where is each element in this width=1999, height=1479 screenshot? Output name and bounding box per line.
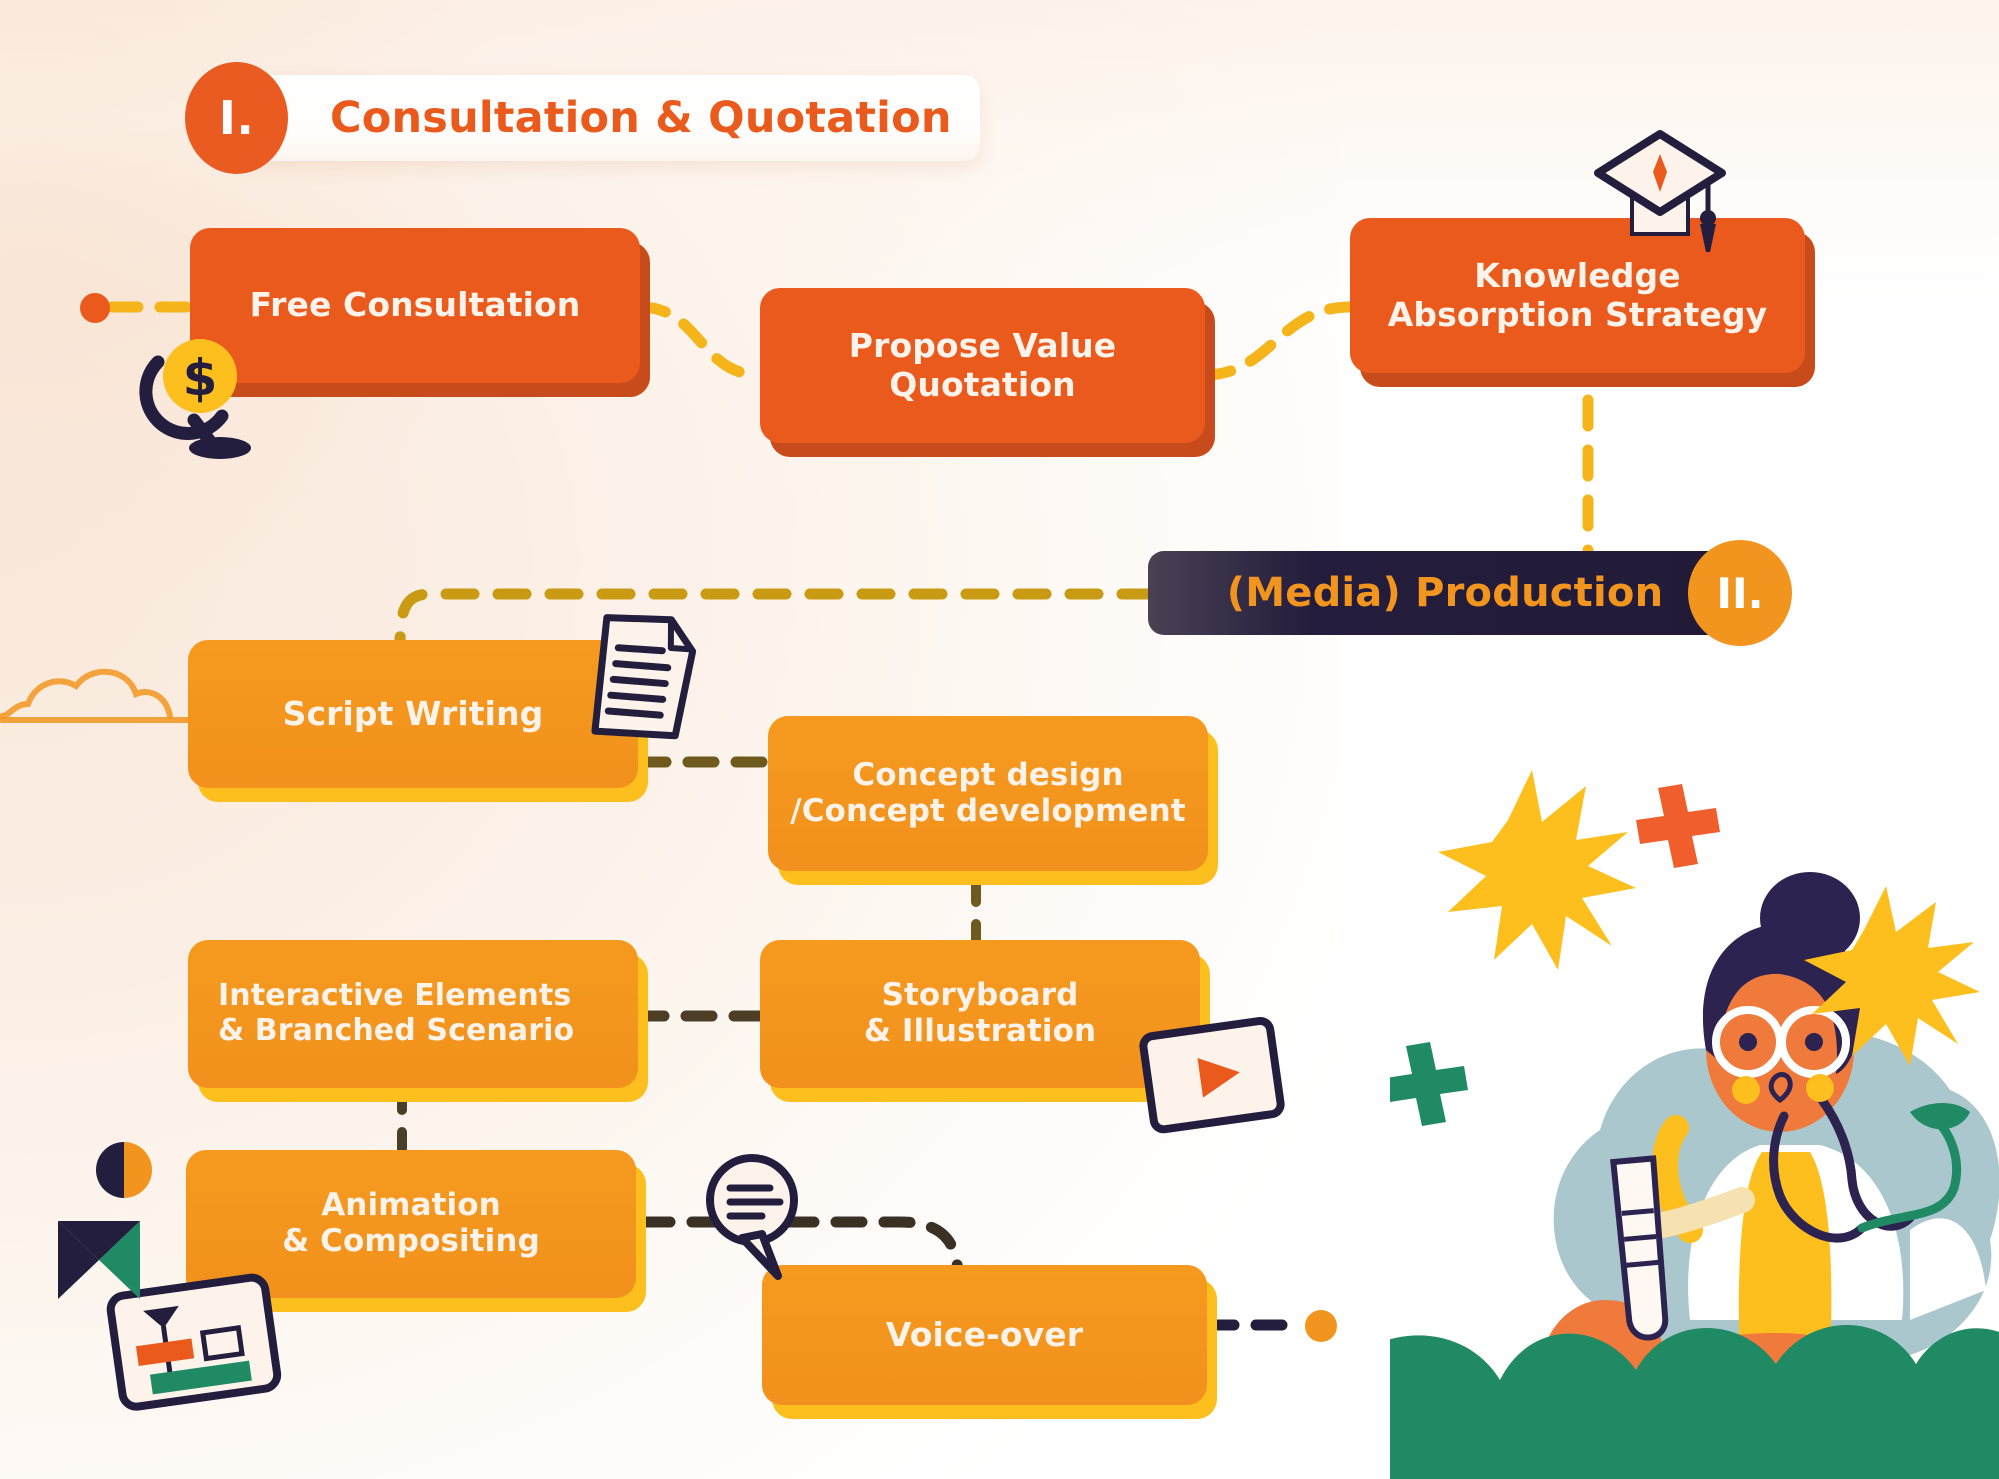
section-header-media-production[interactable]: (Media) Production II. bbox=[1148, 551, 1808, 635]
node-knowledge-absorption-strategy[interactable]: Knowledge Absorption Strategy bbox=[1350, 218, 1805, 373]
video-play-icon bbox=[1135, 1011, 1291, 1140]
infographic-canvas: I. Consultation & Quotation (Media) Prod… bbox=[0, 0, 1999, 1479]
node-face: Concept design /Concept development bbox=[768, 716, 1208, 871]
node-face: Voice-over bbox=[762, 1265, 1207, 1405]
node-label-line-2: & Illustration bbox=[864, 1014, 1096, 1050]
node-label-line-1: Knowledge bbox=[1474, 257, 1680, 295]
cloud-outline-icon bbox=[0, 650, 210, 760]
node-label-free-consultation: Free Consultation bbox=[250, 286, 581, 324]
section-title-1: Consultation & Quotation bbox=[330, 75, 952, 161]
node-storyboard-illustration[interactable]: Storyboard & Illustration bbox=[760, 940, 1200, 1088]
node-face: Script Writing bbox=[188, 640, 638, 788]
node-voice-over[interactable]: Voice-over bbox=[762, 1265, 1207, 1405]
section-numeral-badge-1: I. bbox=[185, 62, 288, 174]
node-face: Interactive Elements & Branched Scenario bbox=[188, 940, 638, 1088]
graduation-cap-icon bbox=[1590, 128, 1735, 258]
node-label-line-2: Quotation bbox=[889, 366, 1075, 404]
document-icon bbox=[579, 604, 708, 750]
section-numeral-1: I. bbox=[219, 91, 255, 145]
node-label-line-1: Concept design bbox=[852, 758, 1123, 794]
section-numeral-badge-2: II. bbox=[1688, 540, 1792, 646]
node-script-writing[interactable]: Script Writing bbox=[188, 640, 638, 788]
svg-text:$: $ bbox=[183, 349, 218, 407]
section-numeral-2: II. bbox=[1716, 569, 1763, 618]
node-label-script-writing: Script Writing bbox=[283, 695, 544, 733]
node-propose-value-quotation[interactable]: Propose Value Quotation bbox=[760, 288, 1205, 443]
node-label-line-2: & Compositing bbox=[282, 1224, 540, 1260]
node-concept-design[interactable]: Concept design /Concept development bbox=[768, 716, 1208, 871]
speech-bubble-icon bbox=[700, 1150, 810, 1280]
flow-end-dot bbox=[1305, 1310, 1337, 1342]
section-title-2: (Media) Production bbox=[1227, 570, 1664, 616]
node-face: Knowledge Absorption Strategy bbox=[1350, 218, 1805, 373]
node-label-line-2: Absorption Strategy bbox=[1388, 296, 1767, 334]
node-label-line-2: /Concept development bbox=[790, 794, 1185, 830]
node-label-line-1: Propose Value bbox=[849, 327, 1116, 365]
node-label-voice-over: Voice-over bbox=[886, 1316, 1083, 1354]
node-label-line-1: Animation bbox=[321, 1188, 501, 1224]
section-header-plate-dark: (Media) Production bbox=[1148, 551, 1742, 635]
node-label-line-1: Storyboard bbox=[882, 978, 1079, 1014]
half-circle-icon bbox=[96, 1142, 152, 1198]
flow-start-dot bbox=[80, 293, 110, 323]
node-label-line-2: & Branched Scenario bbox=[218, 1014, 574, 1049]
node-face: Storyboard & Illustration bbox=[760, 940, 1200, 1088]
scientist-illustration bbox=[1390, 760, 1999, 1479]
node-interactive-elements[interactable]: Interactive Elements & Branched Scenario bbox=[188, 940, 638, 1088]
node-face: Propose Value Quotation bbox=[760, 288, 1205, 443]
node-label-line-1: Interactive Elements bbox=[218, 979, 571, 1014]
section-header-consultation[interactable]: I. Consultation & Quotation bbox=[185, 75, 980, 161]
bowtie-icon bbox=[54, 1215, 144, 1305]
globe-dollar-icon: $ bbox=[128, 320, 268, 460]
